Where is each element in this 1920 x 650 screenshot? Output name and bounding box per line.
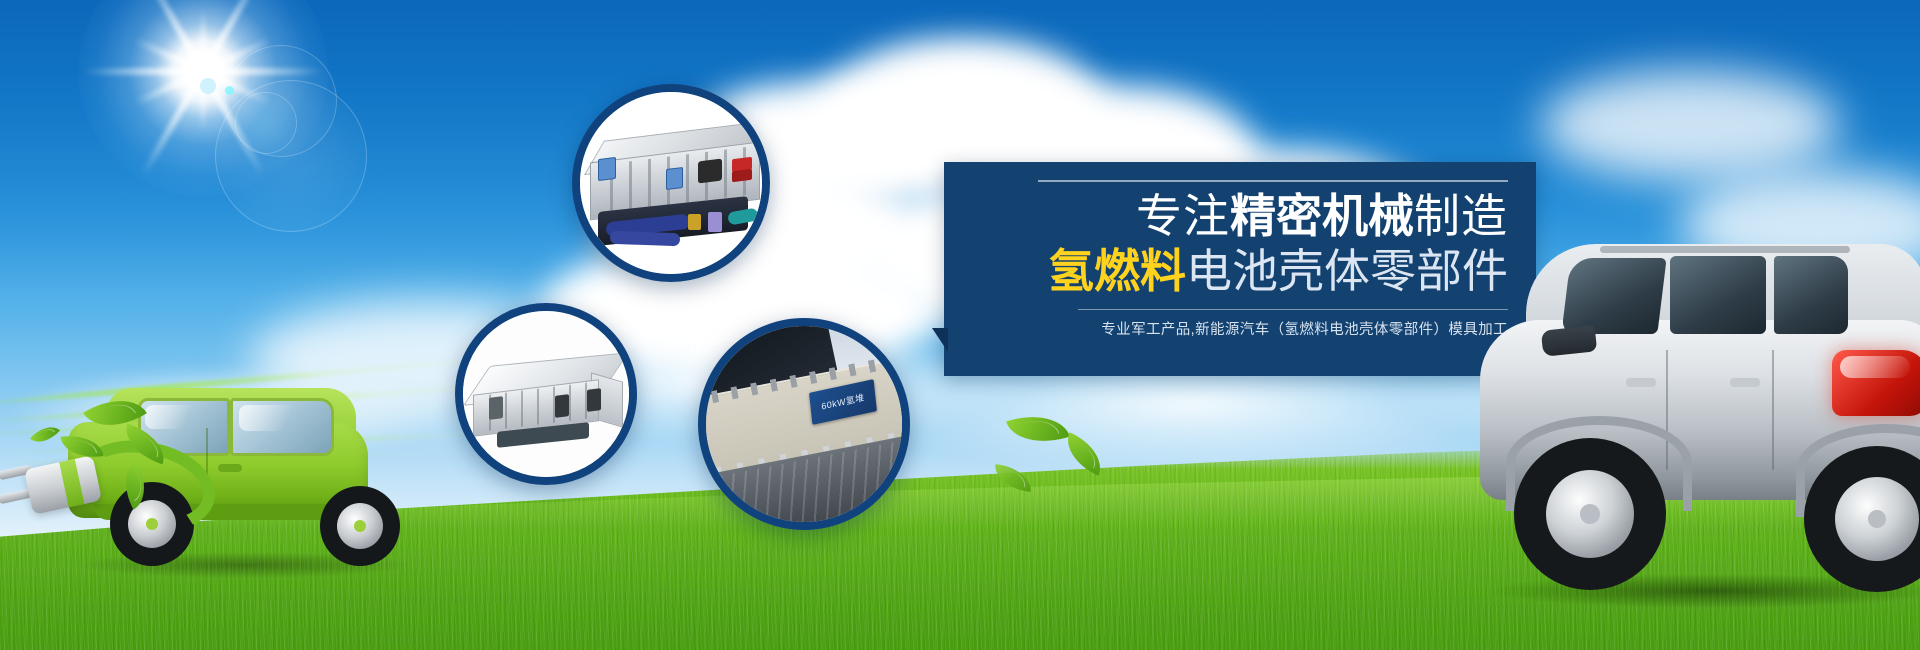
panel-notch	[932, 328, 948, 352]
hero-banner: 60kW氢堆 专注精密机械制造 氢燃料电池壳体零部件 专业军工产品,新能源汽车（…	[0, 0, 1920, 650]
headline-part-2: 精密机械	[1230, 190, 1414, 242]
suv-door-handle	[1730, 378, 1760, 387]
fuel-cell-stack-photo: 60kW氢堆	[706, 326, 902, 522]
headline-part-1: 专注	[1136, 190, 1230, 242]
suv-hub	[1868, 510, 1886, 528]
suv-hub	[1580, 504, 1600, 524]
suv-door-handle	[1626, 378, 1656, 387]
battery-enclosure-photo	[463, 311, 629, 477]
suv-window	[1670, 256, 1766, 334]
headline-line-2: 氢燃料电池壳体零部件	[1048, 245, 1508, 298]
divider-top	[1038, 180, 1508, 182]
suv-window	[1561, 258, 1666, 334]
green-electric-car	[10, 376, 400, 626]
headline-panel: 专注精密机械制造 氢燃料电池壳体零部件 专业军工产品,新能源汽车（氢燃料电池壳体…	[944, 162, 1536, 376]
car-hub	[354, 520, 366, 532]
suv-roof-rail	[1600, 246, 1850, 253]
product-circle-battery-module[interactable]	[572, 84, 770, 282]
car-door-handle	[218, 464, 242, 472]
lens-flare-ring	[215, 80, 367, 232]
lens-flare-dot	[225, 86, 234, 95]
cloud	[880, 60, 1080, 130]
divider-bottom	[1078, 309, 1508, 310]
product-circle-fuel-cell-stack[interactable]: 60kW氢堆	[698, 318, 910, 530]
product-circle-battery-enclosure[interactable]	[455, 303, 637, 485]
headline-subtitle: 专业军工产品,新能源汽车（氢燃料电池壳体零部件）模具加工	[1101, 318, 1508, 339]
cloud	[1540, 70, 1840, 180]
lens-flare-dot	[200, 78, 216, 94]
leaf-icon	[30, 419, 60, 450]
headline-highlight: 氢燃料	[1048, 245, 1186, 297]
suv-taillight-highlight	[1840, 356, 1910, 378]
lens-flare-glow	[235, 92, 297, 154]
car-window	[230, 398, 334, 456]
headline-rest: 电池壳体零部件	[1186, 245, 1508, 297]
suv-window	[1774, 256, 1848, 334]
suv-door-seam	[1772, 350, 1774, 470]
headline-line-1: 专注精密机械制造	[1136, 190, 1508, 243]
battery-module-photo	[580, 92, 762, 274]
silver-suv	[1480, 210, 1920, 630]
